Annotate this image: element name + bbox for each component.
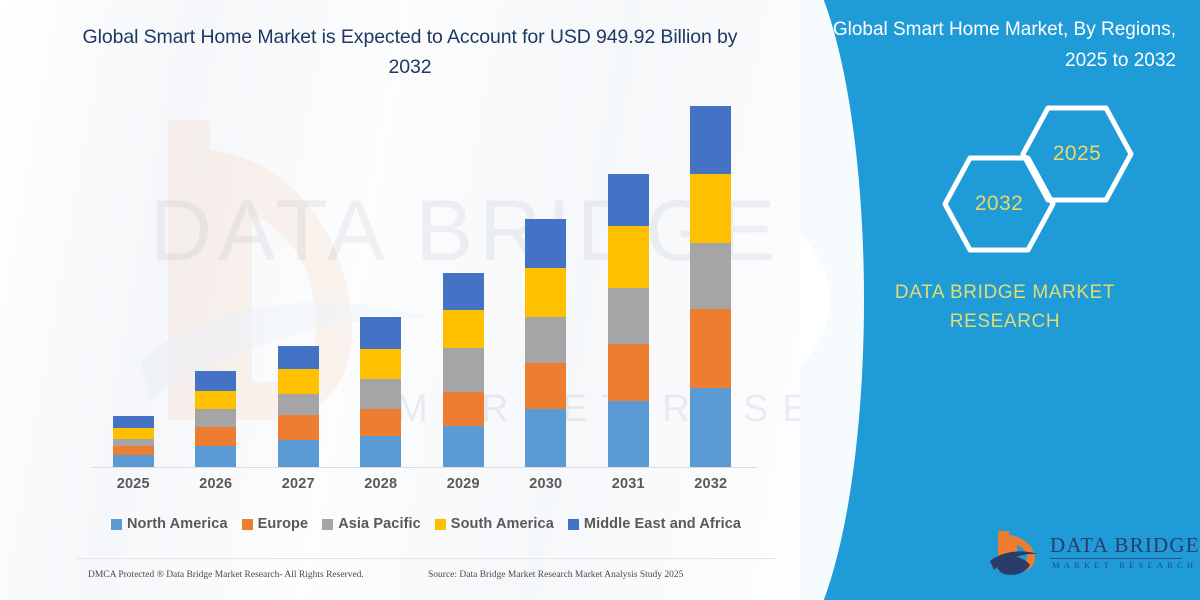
x-axis-tick-2027: 2027 xyxy=(258,476,338,492)
legend-label: North America xyxy=(127,516,228,532)
x-axis-tick-2029: 2029 xyxy=(423,476,503,492)
bar-segment xyxy=(360,379,401,409)
bar-segment xyxy=(443,310,484,348)
bar-segment xyxy=(360,436,401,468)
bar-segment xyxy=(278,394,319,416)
panel-title: Global Smart Home Market, By Regions, 20… xyxy=(820,14,1190,76)
legend-swatch-icon xyxy=(111,519,122,530)
hexagon-2032: 2032 xyxy=(940,152,1058,256)
bar-segment xyxy=(525,219,566,267)
legend-item-middle-east-and-africa[interactable]: Middle East and Africa xyxy=(568,516,741,532)
hexagon-2032-label: 2032 xyxy=(975,192,1023,216)
x-axis-labels: 20252026202720282029203020312032 xyxy=(92,476,752,502)
bar-segment xyxy=(113,416,154,428)
bar-segment xyxy=(195,371,236,391)
bar-segment xyxy=(608,401,649,468)
bar-column-2031 xyxy=(608,174,649,468)
footer-source: Source: Data Bridge Market Research Mark… xyxy=(428,570,683,580)
bar-segment xyxy=(195,409,236,426)
bar-segment xyxy=(525,317,566,363)
x-axis-tick-2032: 2032 xyxy=(671,476,751,492)
bar-segment xyxy=(195,446,236,468)
bar-segment xyxy=(278,369,319,394)
company-logo: DATA BRIDGE MARKET RESEARCH xyxy=(988,525,1188,583)
plot-area xyxy=(92,120,752,468)
brand-name: DATA BRIDGE MARKET RESEARCH xyxy=(840,278,1170,336)
chart-title: Global Smart Home Market is Expected to … xyxy=(60,22,760,82)
legend-label: Europe xyxy=(258,516,309,532)
legend-swatch-icon xyxy=(568,519,579,530)
bar-column-2026 xyxy=(195,371,236,468)
bar-segment xyxy=(360,349,401,379)
legend-swatch-icon xyxy=(242,519,253,530)
bar-segment xyxy=(360,409,401,437)
legend-item-north-america[interactable]: North America xyxy=(111,516,228,532)
bar-segment xyxy=(608,288,649,345)
data-bridge-b-mark-icon xyxy=(988,527,1042,579)
bar-segment xyxy=(525,363,566,409)
bar-segment xyxy=(525,409,566,468)
bar-segment xyxy=(608,344,649,401)
bar-column-2030 xyxy=(525,219,566,468)
bar-segment xyxy=(113,446,154,455)
legend-item-asia-pacific[interactable]: Asia Pacific xyxy=(322,516,421,532)
x-axis-line xyxy=(92,467,757,468)
bar-segment xyxy=(278,346,319,369)
footer-copyright: DMCA Protected ® Data Bridge Market Rese… xyxy=(88,570,364,580)
bar-column-2029 xyxy=(443,273,484,468)
bar-segment xyxy=(690,106,731,174)
legend-label: South America xyxy=(451,516,554,532)
bar-segment xyxy=(608,226,649,287)
x-axis-tick-2026: 2026 xyxy=(176,476,256,492)
logo-underline xyxy=(1050,558,1182,559)
hexagon-group: 2025 2032 xyxy=(800,96,1200,236)
footer-divider xyxy=(76,558,776,559)
bar-segment xyxy=(113,439,154,447)
x-axis-tick-2028: 2028 xyxy=(341,476,421,492)
legend-swatch-icon xyxy=(435,519,446,530)
bar-segment xyxy=(443,392,484,426)
logo-text-main: DATA BRIDGE xyxy=(1050,533,1200,558)
bar-segment xyxy=(443,348,484,392)
bar-segment xyxy=(690,309,731,389)
bar-segment xyxy=(690,243,731,309)
x-axis-tick-2030: 2030 xyxy=(506,476,586,492)
legend-label: Middle East and Africa xyxy=(584,516,741,532)
legend-item-south-america[interactable]: South America xyxy=(435,516,554,532)
chart-legend: North AmericaEuropeAsia PacificSouth Ame… xyxy=(92,512,760,536)
legend-label: Asia Pacific xyxy=(338,516,421,532)
bar-segment xyxy=(443,273,484,310)
bar-segment xyxy=(690,174,731,243)
chart-panel: DATA BRIDGE MARKET RESEARCH Global Smart… xyxy=(0,0,800,600)
bar-segment xyxy=(525,268,566,317)
bar-segment xyxy=(608,174,649,227)
bar-segment xyxy=(360,317,401,349)
legend-swatch-icon xyxy=(322,519,333,530)
bar-column-2027 xyxy=(278,346,319,468)
bar-segment xyxy=(278,440,319,468)
screenshot-root: DATA BRIDGE MARKET RESEARCH Global Smart… xyxy=(0,0,1200,600)
x-axis-tick-2031: 2031 xyxy=(588,476,668,492)
bar-segment xyxy=(690,388,731,468)
branding-panel: Global Smart Home Market, By Regions, 20… xyxy=(800,0,1200,600)
bar-segment xyxy=(195,427,236,447)
bar-segment xyxy=(278,415,319,440)
legend-item-europe[interactable]: Europe xyxy=(242,516,309,532)
bar-segment xyxy=(113,428,154,439)
bar-column-2032 xyxy=(690,106,731,468)
bar-segment xyxy=(195,391,236,409)
bar-column-2025 xyxy=(113,416,154,468)
x-axis-tick-2025: 2025 xyxy=(93,476,173,492)
logo-text-sub: MARKET RESEARCH xyxy=(1052,560,1197,570)
bar-segment xyxy=(443,426,484,468)
hexagon-2025-label: 2025 xyxy=(1053,142,1101,166)
bar-column-2028 xyxy=(360,317,401,468)
